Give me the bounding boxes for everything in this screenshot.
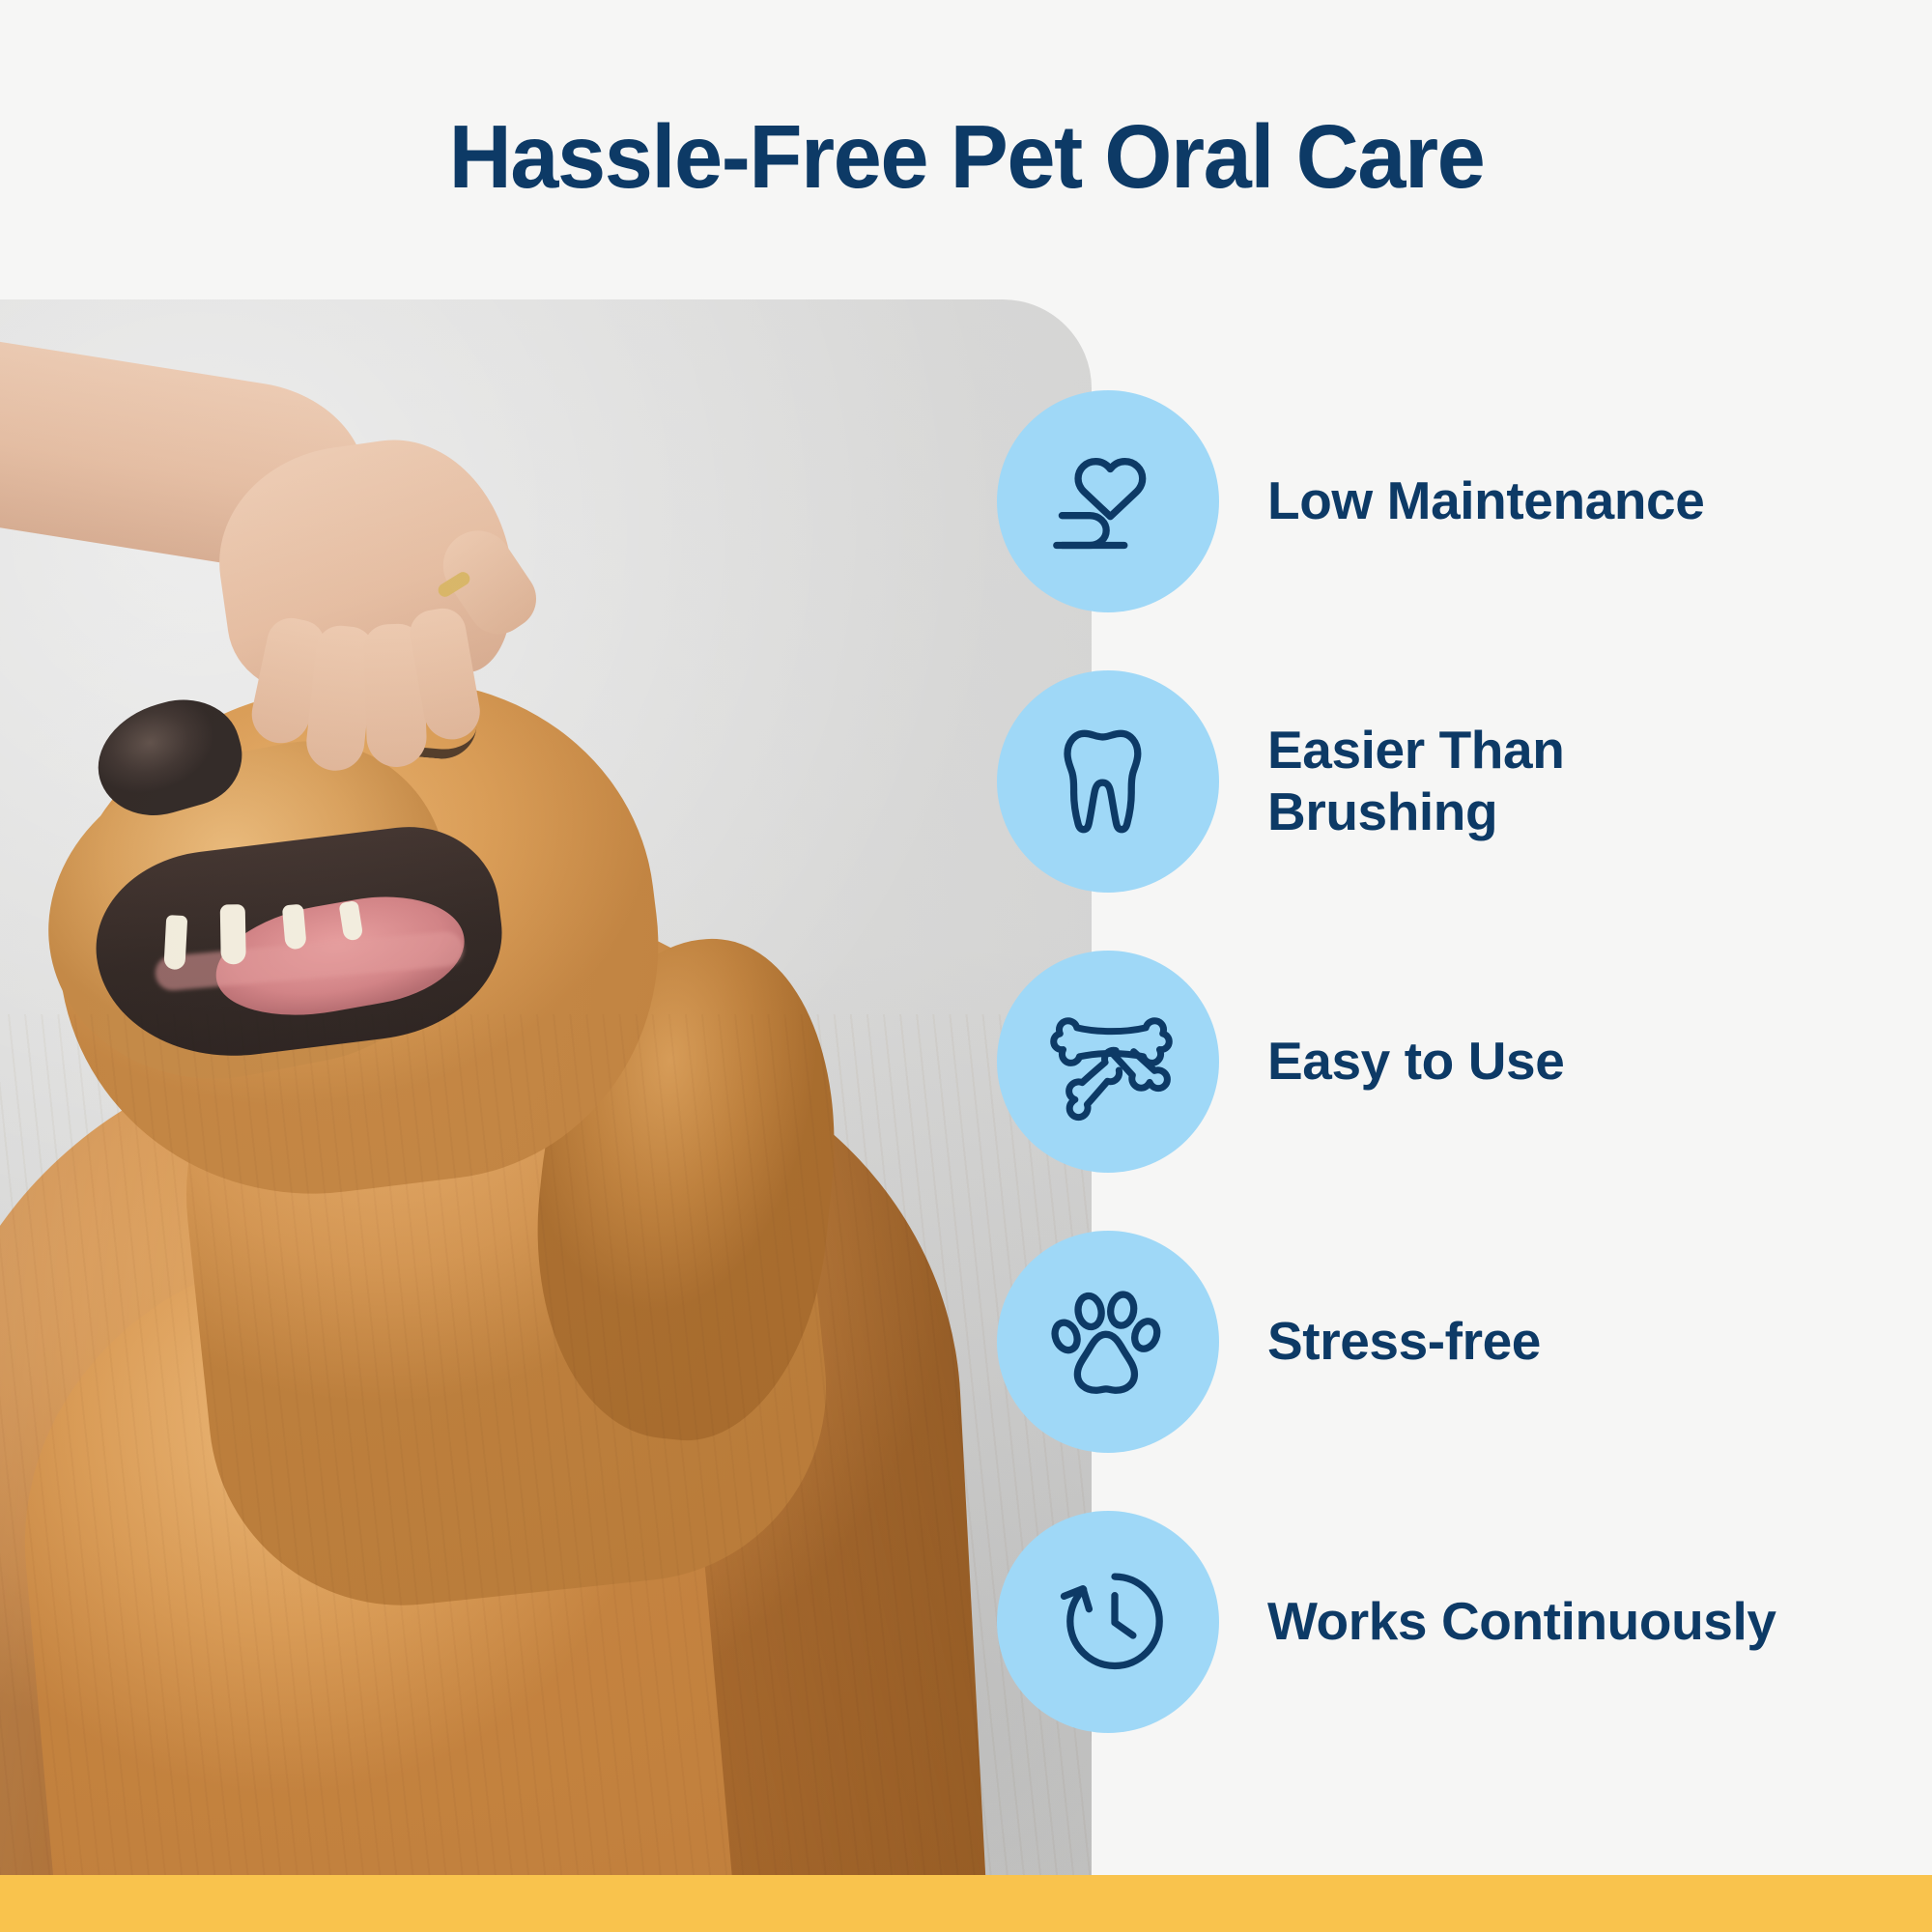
feature-item-low-maintenance: Low Maintenance <box>997 390 1837 612</box>
feature-list: Low Maintenance Easier Than Brushing <box>997 390 1837 1733</box>
promo-graphic: Hassle-Free Pet Oral Care <box>0 0 1932 1932</box>
feature-label: Easy to Use <box>1267 1031 1564 1093</box>
feature-label: Stress-free <box>1267 1311 1541 1373</box>
bottom-accent-bar <box>0 1875 1932 1932</box>
dog-tooth <box>282 904 307 951</box>
dog-tooth <box>163 915 187 970</box>
feature-item-works-continuously: Works Continuously <box>997 1511 1837 1733</box>
title-bar: Hassle-Free Pet Oral Care <box>0 0 1932 299</box>
dog-photo <box>0 299 1092 1875</box>
crossed-bones-icon <box>997 951 1219 1173</box>
feature-label: Works Continuously <box>1267 1591 1776 1653</box>
feature-item-stress-free: Stress-free <box>997 1231 1837 1453</box>
feature-item-easy-to-use: Easy to Use <box>997 951 1837 1173</box>
paw-print-icon <box>997 1231 1219 1453</box>
feature-item-easier-than-brushing: Easier Than Brushing <box>997 670 1837 893</box>
clock-refresh-icon <box>997 1511 1219 1733</box>
heart-over-pet-bed-icon <box>997 390 1219 612</box>
feature-label: Low Maintenance <box>1267 470 1704 532</box>
dog-fur-texture <box>0 1014 1092 1875</box>
page-title: Hassle-Free Pet Oral Care <box>448 105 1484 209</box>
dog-tooth <box>220 904 246 964</box>
tooth-icon <box>997 670 1219 893</box>
feature-label: Easier Than Brushing <box>1267 720 1808 843</box>
